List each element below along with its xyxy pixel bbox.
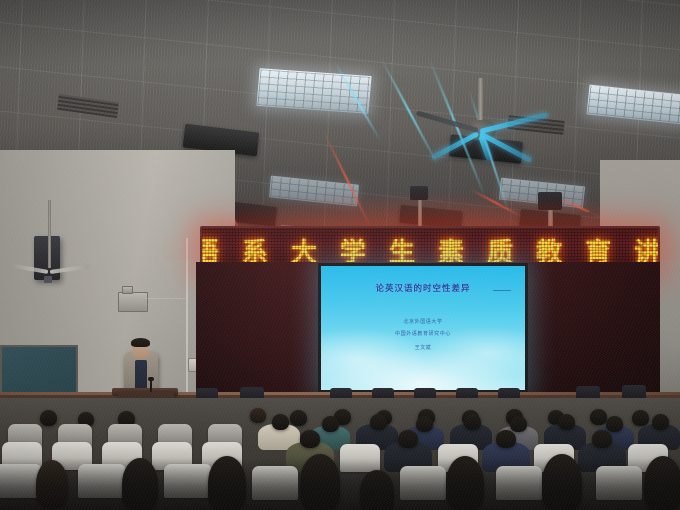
slide-affiliation-line2: 中国外语教育研究中心 [321,330,525,337]
audience-member [590,409,607,425]
audience-member [606,416,623,432]
audience-member [496,430,516,448]
projection-screen: 论英汉语的时空性差异 北京外国语大学 中国外语教育研究中心 王文斌 [321,266,525,390]
audience-foreground-shadow [0,458,680,510]
speaker-hair [131,338,150,347]
audience-member [398,430,418,448]
audience-member [652,414,669,430]
audience-member [370,414,387,430]
audience-member [322,416,339,432]
slide-title: 论英汉语的时空性差异 [321,282,525,294]
projection-screen-frame: 论英汉语的时空性差异 北京外国语大学 中国外语教育研究中心 王文斌 [318,263,528,393]
slide-decor-line [493,290,511,291]
audience-member [416,416,433,432]
audience-member [632,410,649,426]
audience-member [290,410,307,426]
microphone [150,380,152,392]
slide-affiliation-line1: 北京外国语大学 [321,318,525,325]
audience-seating [0,398,680,510]
hanging-speaker [538,192,562,210]
ceiling-fan-downrod [478,78,483,126]
hanging-speaker [410,186,428,200]
wall-mounted-projector [118,292,148,312]
audience-member [592,430,612,448]
microphone-head [148,377,154,381]
audience-member [250,408,266,423]
wall-speaker-bracket [44,276,52,283]
lecture-hall-photo: 外 语 系 大 学 生 素 质 教 育 讲 座 论英汉语的时空性差异 北京外国语… [0,0,680,510]
slide-presenter-name: 王文斌 [321,344,525,351]
ceiling-fan-downrod [48,200,51,268]
wall-mounted-bracket [122,286,133,294]
audience-member [272,414,289,430]
audience-member [300,430,320,448]
conduit-line [146,298,186,299]
audience-member [558,414,575,430]
audience-member [510,416,527,432]
audience-member [464,414,481,430]
audience-member [40,410,57,426]
